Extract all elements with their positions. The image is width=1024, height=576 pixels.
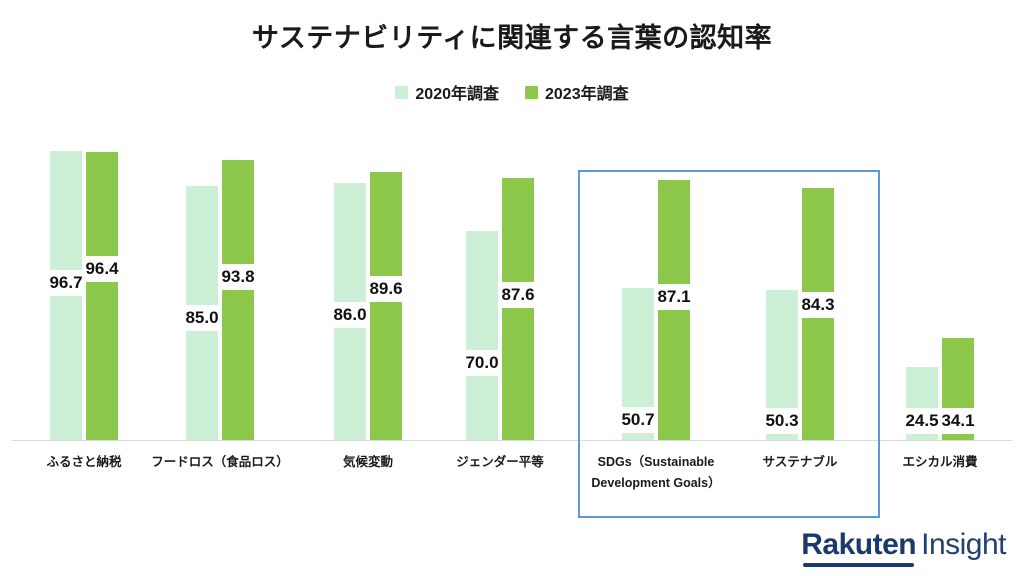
bar-value-label: 96.4 xyxy=(82,256,121,282)
bar-value-label: 96.7 xyxy=(46,270,85,296)
bar-value-label: 50.3 xyxy=(762,408,801,434)
sustainability-awareness-chart: サステナビリティに関連する言葉の認知率 2020年調査 2023年調査 96.7… xyxy=(0,0,1024,576)
chart-title: サステナビリティに関連する言葉の認知率 xyxy=(0,16,1024,55)
bar-2023: 89.6 xyxy=(370,172,402,440)
bar-2023: 34.1 xyxy=(942,338,974,440)
axis-baseline xyxy=(12,440,1012,441)
category-label-line: エシカル消費 xyxy=(860,452,1020,473)
bar-2023: 93.8 xyxy=(222,160,254,440)
chart-legend: 2020年調査 2023年調査 xyxy=(0,80,1024,104)
legend-label-2020: 2020年調査 xyxy=(415,80,499,104)
bar-value-label: 86.0 xyxy=(330,302,369,328)
bar-2020: 50.7 xyxy=(622,288,654,440)
bar-2020: 86.0 xyxy=(334,183,366,440)
bar-value-label: 87.1 xyxy=(654,284,693,310)
bar-value-label: 24.5 xyxy=(902,408,941,434)
bar-2020: 85.0 xyxy=(186,186,218,440)
bar-group: 70.087.6 xyxy=(466,128,534,440)
bar-group: 96.796.4 xyxy=(50,128,118,440)
category-label: ジェンダー平等 xyxy=(415,452,585,473)
bar-group: 50.787.1 xyxy=(622,128,690,440)
logo-brand-text: Rakuten xyxy=(801,528,916,562)
category-label-line: ジェンダー平等 xyxy=(415,452,585,473)
bar-2023: 87.1 xyxy=(658,180,690,440)
bar-group: 86.089.6 xyxy=(334,128,402,440)
rakuten-insight-logo: Rakuten Insight xyxy=(801,528,1006,562)
bar-value-label: 50.7 xyxy=(618,407,657,433)
legend-swatch-2020-icon xyxy=(395,86,408,99)
category-label-line: フードロス（食品ロス） xyxy=(130,452,310,473)
bar-2020: 50.3 xyxy=(766,290,798,440)
category-label: サステナブル xyxy=(720,452,880,473)
category-label: エシカル消費 xyxy=(860,452,1020,473)
category-label: フードロス（食品ロス） xyxy=(130,452,310,473)
bar-2023: 84.3 xyxy=(802,188,834,440)
category-label-line: サステナブル xyxy=(720,452,880,473)
bar-2020: 70.0 xyxy=(466,231,498,440)
logo-product-text: Insight xyxy=(921,528,1006,562)
bar-2023: 96.4 xyxy=(86,152,118,440)
bar-group: 85.093.8 xyxy=(186,128,254,440)
bar-value-label: 70.0 xyxy=(462,350,501,376)
bar-value-label: 89.6 xyxy=(366,276,405,302)
bar-value-label: 84.3 xyxy=(798,292,837,318)
category-label-line: Development Goals） xyxy=(561,473,751,494)
legend-item-2020[interactable]: 2020年調査 xyxy=(395,80,499,104)
bar-value-label: 85.0 xyxy=(182,305,221,331)
bar-group: 24.534.1 xyxy=(906,128,974,440)
legend-swatch-2023-icon xyxy=(525,86,538,99)
legend-item-2023[interactable]: 2023年調査 xyxy=(525,80,629,104)
bar-value-label: 34.1 xyxy=(938,408,977,434)
bar-value-label: 93.8 xyxy=(218,264,257,290)
bar-2023: 87.6 xyxy=(502,178,534,440)
bar-group: 50.384.3 xyxy=(766,128,834,440)
bar-2020: 96.7 xyxy=(50,151,82,440)
legend-label-2023: 2023年調査 xyxy=(545,80,629,104)
bar-value-label: 87.6 xyxy=(498,282,537,308)
bar-2020: 24.5 xyxy=(906,367,938,440)
